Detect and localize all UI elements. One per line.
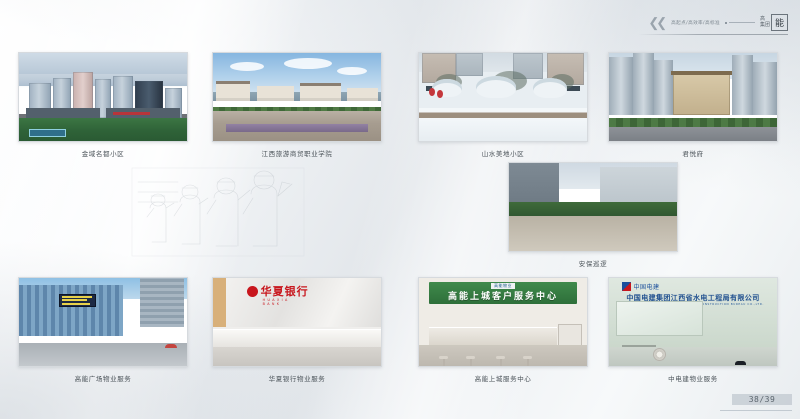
photo-card-shanshui-meidi[interactable]: 山水美地小区	[418, 52, 588, 142]
header-divider-line	[725, 22, 755, 24]
company-logo: 高集团 能	[760, 14, 788, 31]
presentation-slide: ❮❮ 高起点/高效率/高标准 高集团 能	[0, 0, 800, 419]
security-guards-salute-sketch-icon	[128, 162, 308, 258]
page-indicator-number: 38/39	[749, 395, 776, 404]
photo-caption: 高能广场物业服务	[18, 373, 188, 383]
photo-residential-street	[608, 52, 778, 142]
company-logo-glyph: 能	[771, 14, 788, 31]
photo-shopping-plaza	[18, 277, 188, 367]
photo-caption: 高能上城服务中心	[418, 373, 588, 383]
page-indicator[interactable]: 38/39	[732, 394, 792, 405]
huaxia-bank-logo: 华夏银行 HUAXIA BANK	[247, 286, 309, 297]
service-center-signboard: 高能物业 高能上城客户服务中心	[429, 282, 577, 305]
floor-fan-icon	[653, 348, 666, 361]
slide-header: ❮❮ 高起点/高效率/高标准 高集团 能	[648, 14, 788, 31]
photo-card-jincheng-mingdu[interactable]: 金域名都小区	[18, 52, 188, 142]
photo-customer-service-center: 高能物业 高能上城客户服务中心	[418, 277, 588, 367]
photo-bank-lobby: 华夏银行 HUAXIA BANK	[212, 277, 382, 367]
service-center-title: 高能上城客户服务中心	[429, 289, 577, 302]
photo-card-huaxia-bank[interactable]: 华夏银行 HUAXIA BANK 华夏银行物业服务	[212, 277, 382, 367]
photo-campus-plaza	[212, 52, 382, 142]
double-chevron-left-icon: ❮❮	[648, 16, 664, 29]
photo-caption: 华夏银行物业服务	[212, 373, 382, 383]
photo-card-junyue-fu[interactable]: 君悦府	[608, 52, 778, 142]
huaxia-bank-logo-en: HUAXIA BANK	[263, 298, 309, 306]
photo-snowy-courtyard	[418, 52, 588, 142]
photo-aerial-residential	[18, 52, 188, 142]
photo-caption: 江西旅游商贸职业学院	[212, 148, 382, 158]
powerchina-logo-text: 中国电建	[633, 282, 659, 291]
photo-card-jiangxi-tourism-college[interactable]: 江西旅游商贸职业学院	[212, 52, 382, 142]
photo-caption: 安保巡逻	[508, 258, 678, 268]
photo-card-security-patrol[interactable]: 安保巡逻	[508, 162, 678, 252]
photo-caption: 金域名都小区	[18, 148, 188, 158]
header-rule	[638, 34, 788, 35]
photo-card-gaoneng-shangcheng[interactable]: 高能物业 高能上城客户服务中心 高能上城服务中心	[418, 277, 588, 367]
photo-card-zhongdianjian[interactable]: 中国电建 中国电建集团江西省水电工程局有限公司 POWERCHINA JIANG…	[608, 277, 778, 367]
huaxia-bank-logo-cn: 华夏银行	[261, 286, 309, 297]
header-slogan: 高起点/高效率/高标准	[671, 20, 720, 26]
page-indicator-rail	[720, 410, 792, 411]
powerchina-logo: 中国电建	[622, 282, 659, 291]
powerchina-mark-icon	[622, 282, 631, 291]
photo-caption: 君悦府	[608, 148, 778, 158]
photo-caption: 山水美地小区	[418, 148, 588, 158]
huaxia-bank-mark-icon	[247, 286, 258, 297]
photo-security-patrol	[508, 162, 678, 252]
photo-office-lobby-guard: 中国电建 中国电建集团江西省水电工程局有限公司 POWERCHINA JIANG…	[608, 277, 778, 367]
led-screen	[59, 294, 96, 307]
page-indicator-track[interactable]: 38/39	[732, 394, 792, 405]
photo-card-gaoneng-plaza[interactable]: 高能广场物业服务	[18, 277, 188, 367]
company-logo-side-text: 高集团	[760, 17, 770, 29]
photo-caption: 中电建物业服务	[608, 373, 778, 383]
